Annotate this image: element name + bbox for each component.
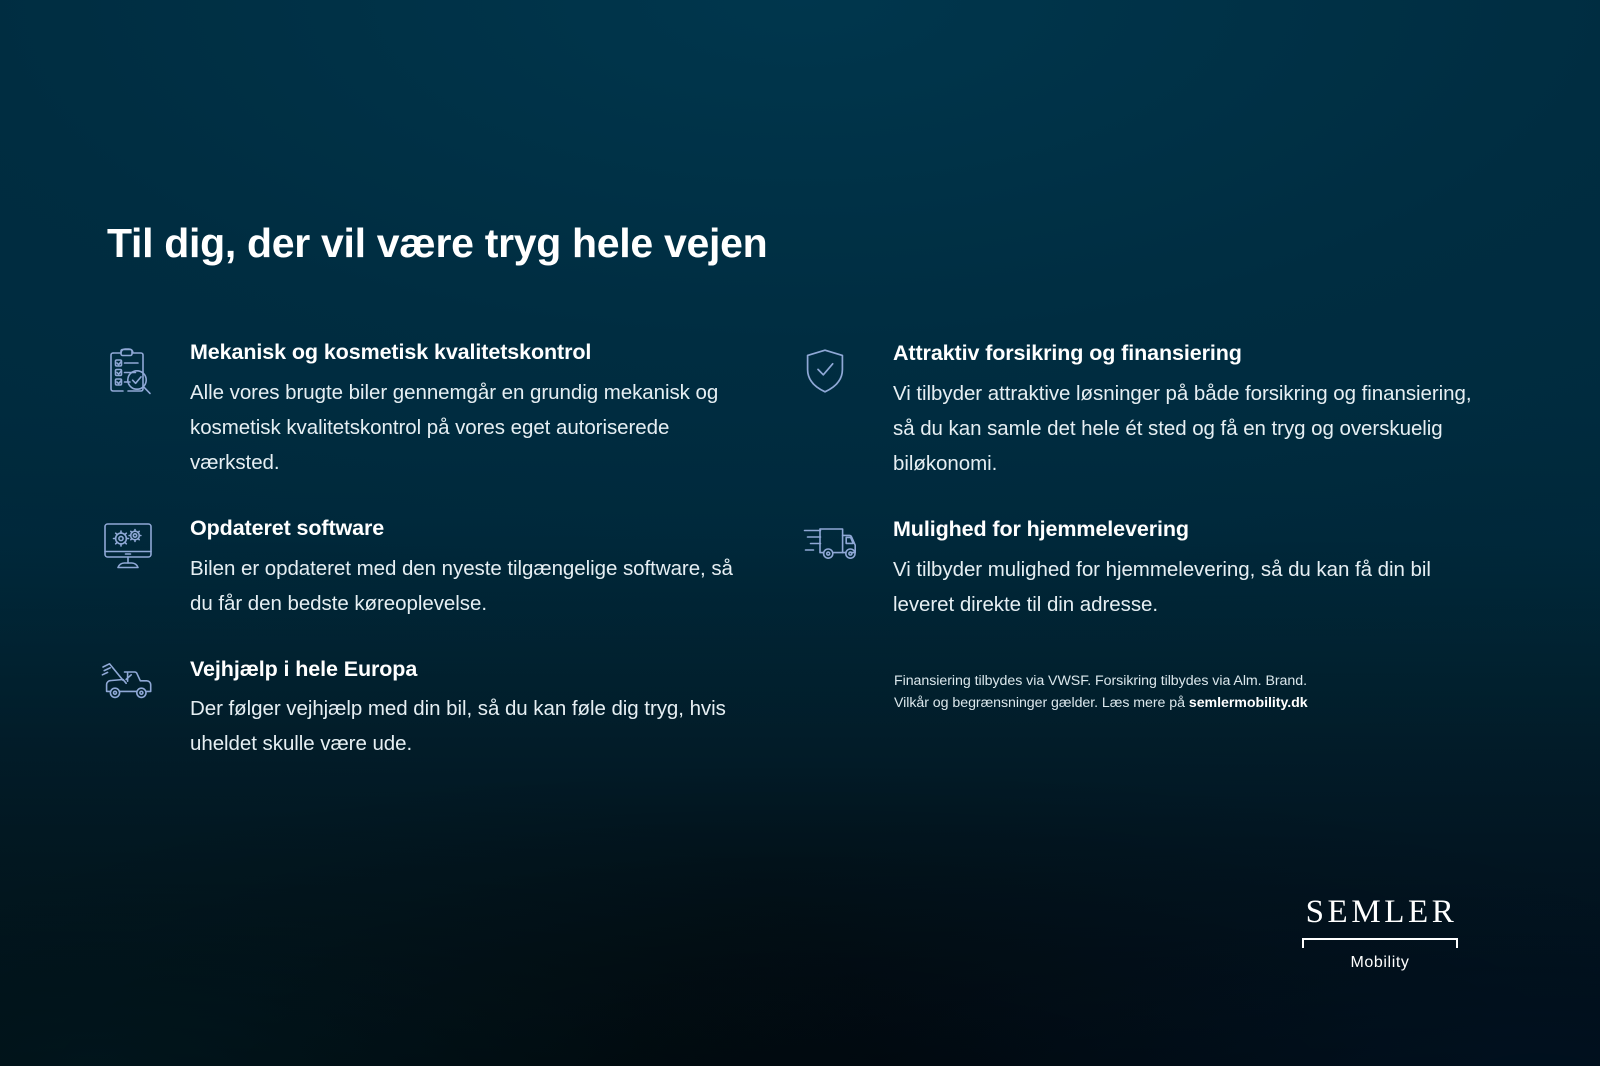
feature-updated-software: Opdateret software Bilen er opdateret me… (100, 516, 740, 621)
feature-title: Vejhjælp i hele Europa (190, 657, 740, 683)
feature-title: Mekanisk og kosmetisk kvalitetskontrol (190, 340, 740, 366)
disclaimer-line-2: Vilkår og begrænsninger gælder. Læs mere… (894, 692, 1454, 714)
poster-canvas: Til dig, der vil være tryg hele vejen (0, 0, 1600, 1066)
feature-description: Vi tilbyder mulighed for hjemmelevering,… (893, 552, 1483, 622)
delivery-truck-icon (803, 517, 865, 565)
disclaimer-text: Finansiering tilbydes via VWSF. Forsikri… (894, 670, 1454, 714)
features-column-right: Attraktiv forsikring og finansiering Vi … (803, 341, 1483, 658)
feature-body: Opdateret software Bilen er opdateret me… (190, 516, 740, 621)
page-title: Til dig, der vil være tryg hele vejen (107, 220, 767, 267)
feature-description: Alle vores brugte biler gennemgår en gru… (190, 375, 740, 480)
logo-divider-rule (1300, 938, 1460, 948)
feature-body: Mulighed for hjemmelevering Vi tilbyder … (893, 517, 1483, 622)
tow-truck-icon (100, 657, 162, 705)
feature-description: Bilen er opdateret med den nyeste tilgæn… (190, 551, 740, 621)
shield-check-icon (803, 341, 865, 395)
feature-title: Attraktiv forsikring og finansiering (893, 341, 1483, 367)
disclaimer-line-2-prefix: Vilkår og begrænsninger gælder. Læs mere… (894, 695, 1189, 711)
feature-insurance-financing: Attraktiv forsikring og finansiering Vi … (803, 341, 1483, 481)
feature-body: Vejhjælp i hele Europa Der følger vejhjæ… (190, 657, 740, 762)
feature-description: Der følger vejhjælp med din bil, så du k… (190, 691, 740, 761)
logo-rule-tick-right (1456, 938, 1458, 948)
feature-quality-control: Mekanisk og kosmetisk kvalitetskontrol A… (100, 340, 740, 480)
logo-rule-tick-left (1302, 938, 1304, 948)
feature-roadside-assistance: Vejhjælp i hele Europa Der følger vejhjæ… (100, 657, 740, 762)
feature-body: Mekanisk og kosmetisk kvalitetskontrol A… (190, 340, 740, 480)
feature-description: Vi tilbyder attraktive løsninger på både… (893, 376, 1483, 481)
feature-body: Attraktiv forsikring og finansiering Vi … (893, 341, 1483, 481)
semlermobility-link[interactable]: semlermobility.dk (1189, 695, 1308, 711)
clipboard-check-magnifier-icon (100, 340, 162, 400)
logo-rule-bar (1302, 938, 1458, 940)
feature-title: Opdateret software (190, 516, 740, 542)
logo-wordmark: SEMLER (1300, 896, 1460, 929)
feature-home-delivery: Mulighed for hjemmelevering Vi tilbyder … (803, 517, 1483, 622)
logo-subtitle: Mobility (1300, 954, 1460, 972)
features-column-left: Mekanisk og kosmetisk kvalitetskontrol A… (100, 340, 740, 797)
semler-mobility-logo: SEMLER Mobility (1300, 896, 1460, 972)
feature-title: Mulighed for hjemmelevering (893, 517, 1483, 543)
monitor-gears-icon (100, 516, 162, 572)
disclaimer-line-1: Finansiering tilbydes via VWSF. Forsikri… (894, 670, 1454, 692)
